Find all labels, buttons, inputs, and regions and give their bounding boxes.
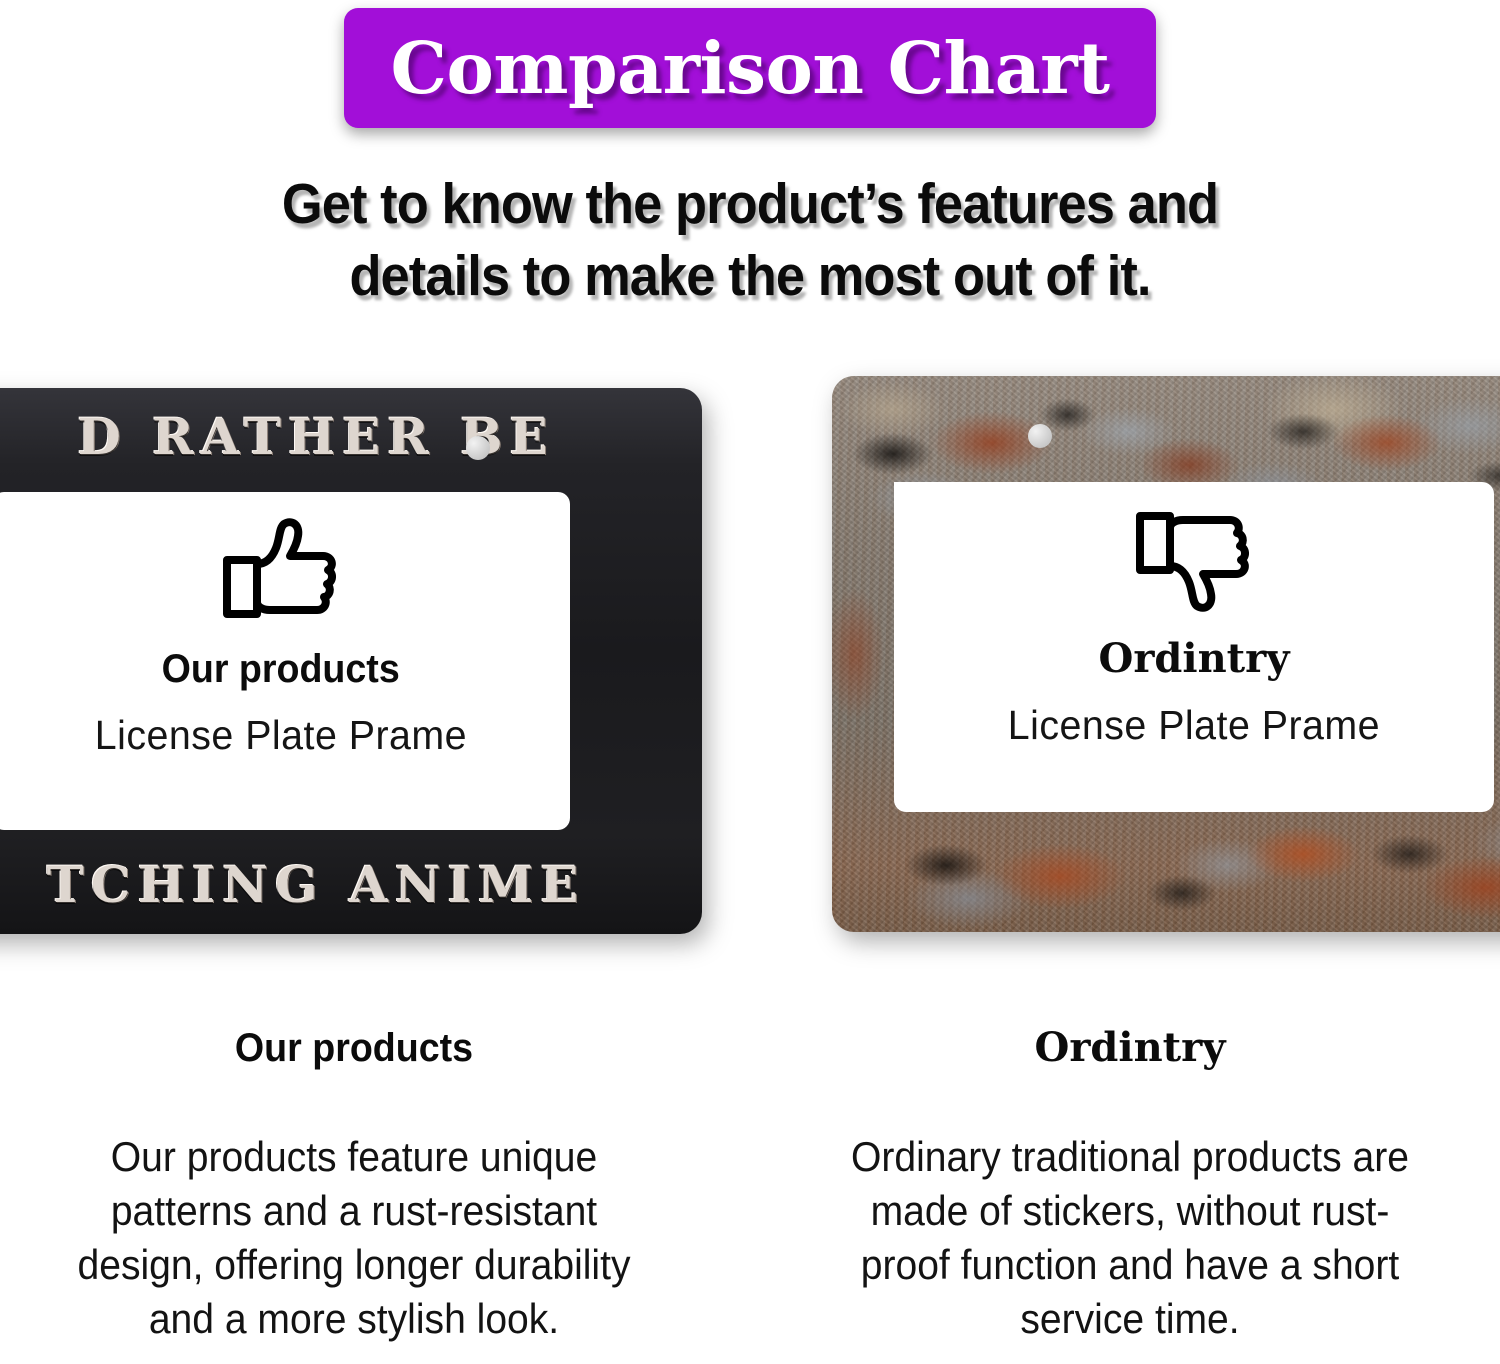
right-plate-title: Ordintry (1099, 639, 1290, 679)
page-subtitle: Get to know the product’s features and d… (60, 168, 1440, 312)
header-banner-area: Comparison Chart (0, 4, 1500, 132)
our-products-heading: Our products (53, 1028, 655, 1068)
our-products-description-column: Our products Our products feature unique… (34, 1028, 674, 1346)
thumbs-down-icon (1135, 508, 1253, 617)
page-title: Comparison Chart (390, 33, 1109, 104)
plate-bottom-rail-text: TCHING ANIME (0, 860, 702, 910)
ordintry-heading: Ordintry (810, 1028, 1450, 1068)
mounting-hole-icon-left (466, 436, 490, 460)
comparison-chart-banner: Comparison Chart (344, 8, 1156, 128)
plate-chamfer-left (426, 492, 492, 556)
thumbs-up-icon (222, 518, 340, 627)
our-product-license-plate-frame: D RATHER BE TCHING ANIME Our products Li… (0, 388, 702, 934)
ordintry-description-column: Ordintry Ordinary traditional products a… (810, 1028, 1450, 1346)
left-plate-subtitle: License Plate Prame (95, 715, 467, 756)
subtitle-line-1: Get to know the product’s features and (60, 168, 1440, 240)
plate-top-rail-text: D RATHER BE (0, 412, 702, 462)
ordintry-body-text: Ordinary traditional products are made o… (832, 1130, 1427, 1346)
plate-chamfer-right (894, 482, 960, 544)
subtitle-line-2: details to make the most out of it. (60, 240, 1440, 312)
our-products-body-text: Our products feature unique patterns and… (56, 1130, 651, 1346)
right-plate-subtitle: License Plate Prame (1008, 705, 1380, 746)
ordinary-product-license-plate-frame: Ordintry License Plate Prame (832, 376, 1500, 932)
left-plate-title: Our products (162, 649, 400, 689)
mounting-hole-icon-right (1028, 424, 1052, 448)
plate-inner-window-right: Ordintry License Plate Prame (894, 482, 1494, 812)
